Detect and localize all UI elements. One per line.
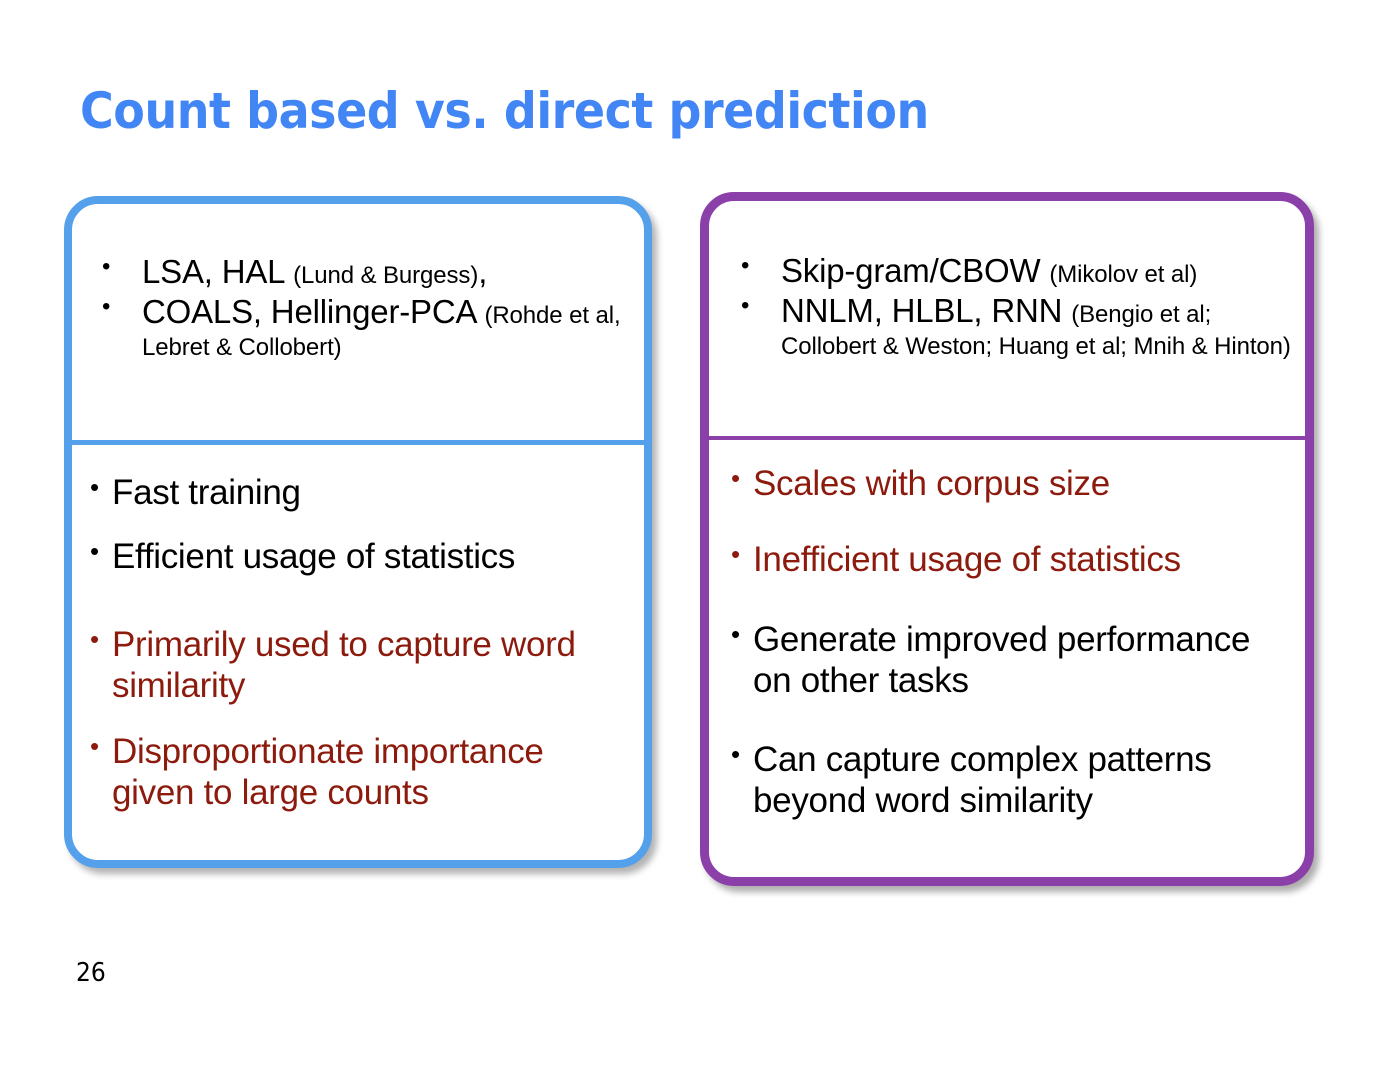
page-number: 26 [76,958,106,988]
list-item: • Fast training [90,472,628,513]
citation-text: NNLM, HLBL, RNN (Bengio et al; Collobert… [781,291,1295,361]
panel-divider [709,436,1305,440]
count-based-panel: • LSA, HAL (Lund & Burgess), • COALS, He… [64,196,652,868]
citation-source: (Lund & Burgess) [293,262,478,289]
point-text: Inefficient usage of statistics [753,539,1293,580]
list-item: • Generate improved performance on other… [731,619,1293,702]
bullet-icon: • [731,739,753,771]
point-text: Fast training [112,472,628,513]
citation-source: (Mikolov et al) [1049,261,1197,288]
bullet-icon: • [731,539,753,571]
bullet-icon: • [94,292,142,323]
direct-prediction-panel: • Skip-gram/CBOW (Mikolov et al) • NNLM,… [700,192,1314,886]
point-text: Scales with corpus size [753,463,1293,504]
list-item: • Scales with corpus size [731,463,1293,504]
list-item: • Disproportionate importance given to l… [90,731,628,814]
bullet-icon: • [90,536,112,568]
list-item: • Can capture complex patterns beyond wo… [731,739,1293,822]
list-item: • Primarily used to capture word similar… [90,624,628,707]
list-item: • Efficient usage of statistics [90,536,628,577]
citation-text: COALS, Hellinger-PCA (Rohde et al, Lebre… [142,292,630,362]
point-text: Generate improved performance on other t… [753,619,1293,702]
citation-text: LSA, HAL (Lund & Burgess), [142,252,630,292]
citation-main: LSA, HAL [142,253,293,290]
point-text: Can capture complex patterns beyond word… [753,739,1293,822]
bullet-icon: • [733,291,781,322]
point-text: Efficient usage of statistics [112,536,628,577]
bullet-icon: • [733,251,781,282]
point-text: Disproportionate importance given to lar… [112,731,628,814]
bullet-icon: • [90,624,112,656]
bullet-icon: • [731,619,753,651]
bullet-icon: • [90,472,112,504]
list-item: • Inefficient usage of statistics [731,539,1293,580]
citation-main: NNLM, HLBL, RNN [781,292,1071,329]
page-title: Count based vs. direct prediction [80,82,929,140]
left-point-list: • Fast training • Efficient usage of sta… [72,472,644,814]
citation-tail: , [478,253,487,290]
list-item: • COALS, Hellinger-PCA (Rohde et al, Leb… [94,292,630,362]
list-item: • LSA, HAL (Lund & Burgess), [94,252,630,292]
citation-main: COALS, Hellinger-PCA [142,293,484,330]
point-text: Primarily used to capture word similarit… [112,624,628,707]
list-item: • Skip-gram/CBOW (Mikolov et al) [733,251,1295,291]
panel-divider [72,440,644,445]
bullet-icon: • [94,252,142,283]
list-item: • NNLM, HLBL, RNN (Bengio et al; Collobe… [733,291,1295,361]
bullet-icon: • [731,463,753,495]
bullet-icon: • [90,731,112,763]
citation-text: Skip-gram/CBOW (Mikolov et al) [781,251,1295,291]
left-citation-list: • LSA, HAL (Lund & Burgess), • COALS, He… [72,204,644,362]
right-citation-list: • Skip-gram/CBOW (Mikolov et al) • NNLM,… [709,201,1305,361]
citation-main: Skip-gram/CBOW [781,252,1049,289]
right-point-list: • Scales with corpus size • Inefficient … [709,463,1305,822]
